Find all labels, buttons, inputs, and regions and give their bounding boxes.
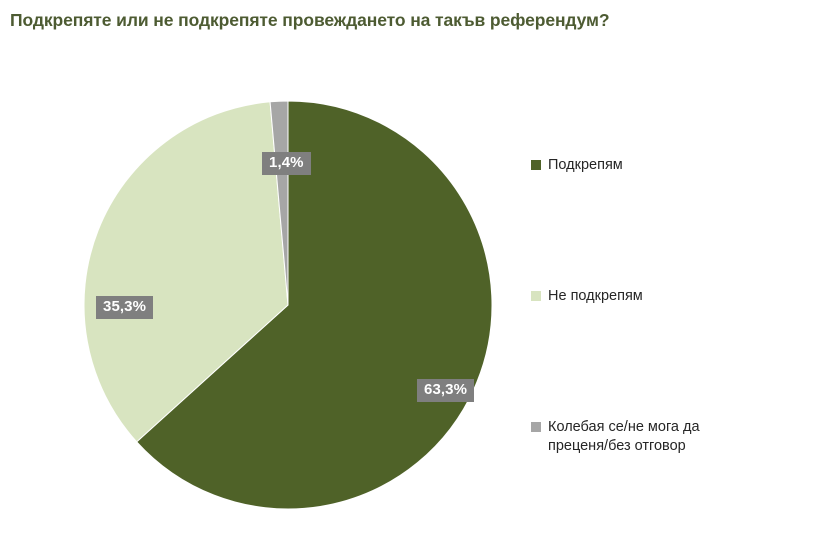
page-title: Подкрепяте или не подкрепяте провежданет… bbox=[10, 8, 820, 32]
legend-item-label: Подкрепям bbox=[548, 156, 623, 175]
pie-chart-figure: Подкрепяте или не подкрепяте провежданет… bbox=[0, 0, 840, 560]
legend-item-label: Не подкрепям bbox=[548, 287, 643, 306]
pie-svg bbox=[0, 40, 520, 560]
data-label-no-support: 35,3% bbox=[96, 296, 153, 319]
data-label-undecided: 1,4% bbox=[262, 152, 311, 175]
legend-item-label: Колебая се/не мога да преценя/без отгово… bbox=[548, 418, 738, 456]
plot-area: 63,3% 35,3% 1,4% bbox=[0, 40, 520, 560]
legend: Подкрепям Не подкрепям Колебая се/не мог… bbox=[531, 40, 831, 540]
legend-item-no-support[interactable]: Не подкрепям bbox=[531, 287, 643, 306]
legend-item-support[interactable]: Подкрепям bbox=[531, 156, 623, 175]
data-label-support: 63,3% bbox=[417, 379, 474, 402]
legend-item-undecided[interactable]: Колебая се/не мога да преценя/без отгово… bbox=[531, 418, 738, 456]
legend-swatch-icon bbox=[531, 160, 541, 170]
legend-swatch-icon bbox=[531, 422, 541, 432]
legend-swatch-icon bbox=[531, 291, 541, 301]
